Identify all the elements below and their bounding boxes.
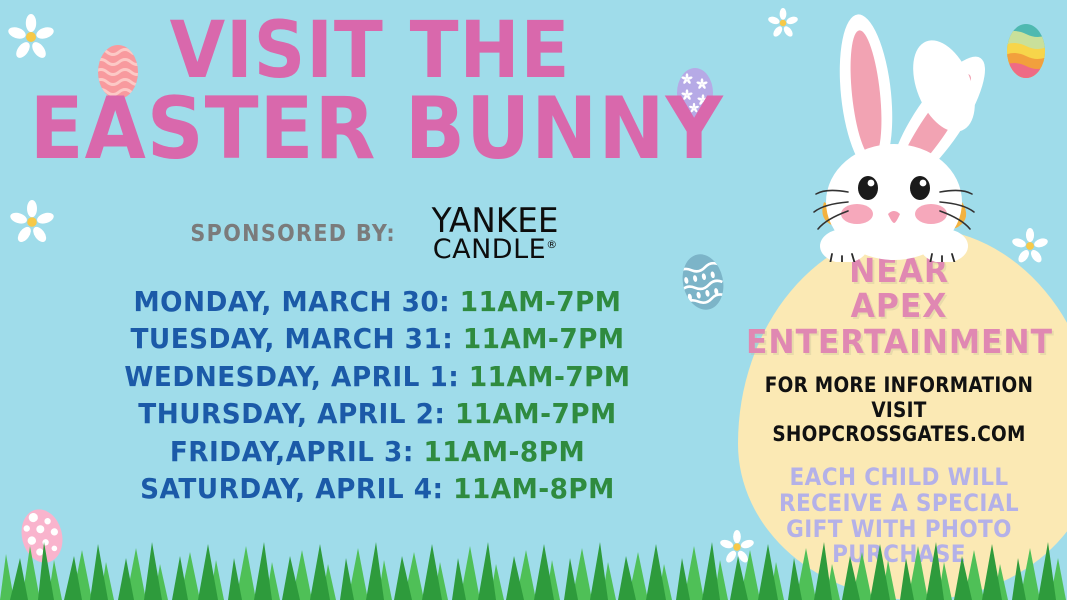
schedule-time: 11AM-7PM (455, 397, 617, 430)
sponsor-row: SPONSORED BY: YANKEE CANDLE® (0, 204, 740, 263)
schedule-row: THURSDAY, APRIL 2: 11AM-7PM (23, 395, 733, 432)
schedule-row: FRIDAY,APRIL 3: 11AM-8PM (23, 433, 733, 470)
easter-bunny-poster: VISIT THE EASTER BUNNY SPONSORED BY: YAN… (0, 0, 1067, 600)
title-line-2: EASTER BUNNY (30, 90, 711, 169)
schedule-date: THURSDAY, APRIL 2: (138, 397, 445, 430)
schedule-time: 11AM-7PM (469, 360, 631, 393)
left-content-column: VISIT THE EASTER BUNNY SPONSORED BY: YAN… (0, 0, 740, 600)
page-title: VISIT THE EASTER BUNNY (0, 16, 740, 169)
schedule-time: 11AM-8PM (453, 472, 615, 505)
schedule-date: WEDNESDAY, APRIL 1: (124, 360, 459, 393)
schedule-row: TUESDAY, MARCH 31: 11AM-7PM (23, 320, 733, 357)
schedule-date: FRIDAY,APRIL 3: (170, 435, 414, 468)
egg-heading-line-2: APEX (746, 288, 1052, 323)
schedule-list: MONDAY, MARCH 30: 11AM-7PM TUESDAY, MARC… (0, 283, 755, 507)
schedule-row: SATURDAY, APRIL 4: 11AM-8PM (23, 470, 733, 507)
egg-note-line-3: GIFT WITH PHOTO (754, 517, 1044, 543)
egg-info-line-1: FOR MORE INFORMATION (757, 359, 1040, 398)
easter-bunny-icon (812, 6, 1012, 262)
egg-note-line-2: RECEIVE A SPECIAL (754, 491, 1044, 517)
schedule-row: WEDNESDAY, APRIL 1: 11AM-7PM (23, 358, 733, 395)
schedule-date: TUESDAY, MARCH 31: (130, 322, 453, 355)
schedule-date: SATURDAY, APRIL 4: (140, 472, 443, 505)
schedule-time: 11AM-8PM (423, 435, 585, 468)
yankee-candle-logo: YANKEE CANDLE® (429, 204, 561, 263)
sponsor-label: SPONSORED BY: (190, 221, 396, 247)
schedule-time: 11AM-7PM (463, 322, 625, 355)
egg-note-line-1: EACH CHILD WILL (754, 447, 1044, 491)
yankee-candle-logo-line-1: YANKEE (432, 204, 559, 238)
egg-info-line-2: VISIT SHOPCROSSGATES.COM (757, 398, 1040, 448)
schedule-row: MONDAY, MARCH 30: 11AM-7PM (23, 283, 733, 320)
title-line-1: VISIT THE (30, 16, 711, 88)
grass-border (0, 540, 1067, 600)
schedule-time: 11AM-7PM (460, 285, 622, 318)
schedule-date: MONDAY, MARCH 30: (134, 285, 451, 318)
egg-heading-line-3: ENTERTAINMENT (746, 324, 1052, 359)
daisy-flower-icon (768, 8, 798, 38)
